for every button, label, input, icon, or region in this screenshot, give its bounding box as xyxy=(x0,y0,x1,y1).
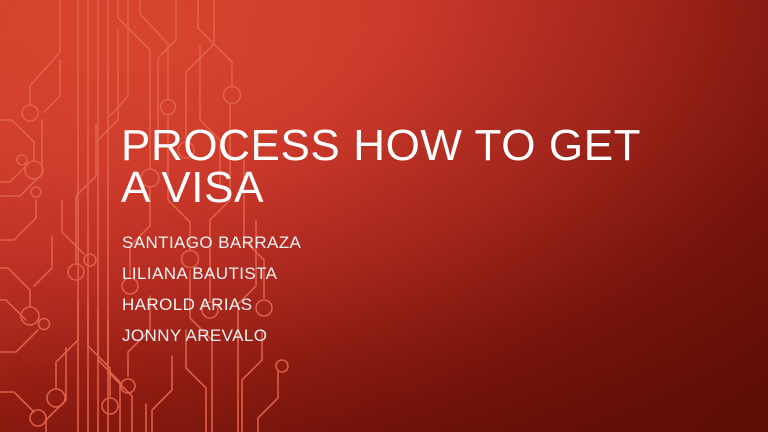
list-item: SANTIAGO BARRAZA xyxy=(122,227,301,258)
author-list: SANTIAGO BARRAZA LILIANA BAUTISTA HAROLD… xyxy=(122,227,301,351)
list-item: JONNY AREVALO xyxy=(122,320,301,351)
slide-content: Process how to get a visa SANTIAGO BARRA… xyxy=(121,0,721,432)
list-item: HAROLD ARIAS xyxy=(122,289,301,320)
page-title: Process how to get a visa xyxy=(121,125,641,209)
presentation-title-slide: Process how to get a visa SANTIAGO BARRA… xyxy=(0,0,768,432)
list-item: LILIANA BAUTISTA xyxy=(122,258,301,289)
